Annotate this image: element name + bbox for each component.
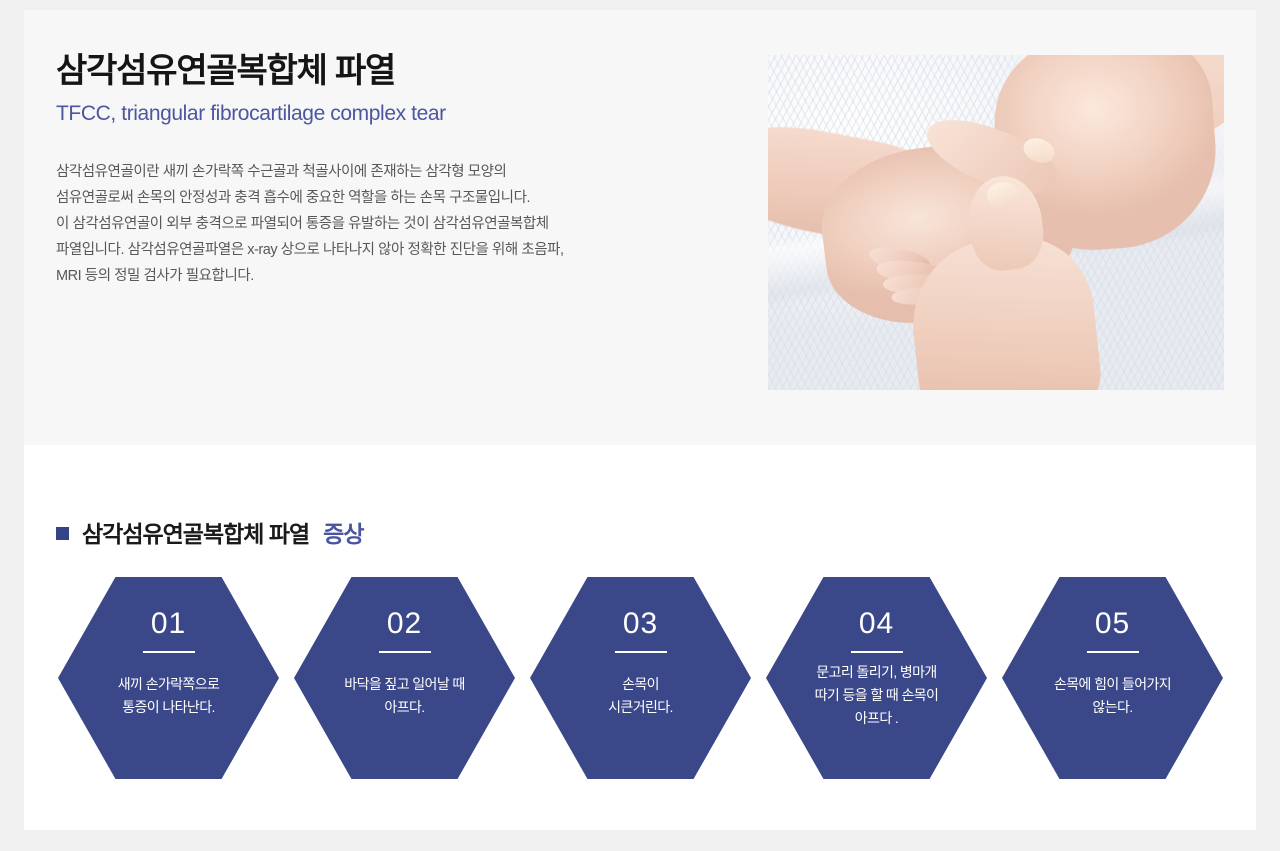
symptom-text-line: 손목이 xyxy=(544,673,737,696)
symptom-text-line: 시큰거린다. xyxy=(544,696,737,719)
intro-text-block: 삼각섬유연골복합체 파열 TFCC, triangular fibrocarti… xyxy=(56,50,736,289)
symptom-text: 손목이 시큰거린다. xyxy=(544,673,737,719)
symptom-text: 문고리 돌리기, 병마개 따기 등을 할 때 손목이 아프다 . xyxy=(780,661,973,730)
square-bullet-icon xyxy=(56,527,69,540)
description-line: 이 삼각섬유연골이 외부 충격으로 파열되어 통증을 유발하는 것이 삼각섬유연… xyxy=(56,216,549,232)
symptom-hexagon-row: 01 새끼 손가락쪽으로 통증이 나타난다. 02 바닥을 짚고 일어날 때 아… xyxy=(58,577,1228,779)
symptom-number: 01 xyxy=(58,609,279,639)
description-line: MRI 등의 정밀 검사가 필요합니다. xyxy=(56,268,254,284)
description-line: 삼각섬유연골이란 새끼 손가락쪽 수근골과 척골사이에 존재하는 삼각형 모양의 xyxy=(56,164,506,180)
symptom-text-line: 손목에 힘이 들어가지 xyxy=(1016,673,1209,696)
symptom-card-03[interactable]: 03 손목이 시큰거린다. xyxy=(530,577,751,779)
symptom-card-02[interactable]: 02 바닥을 짚고 일어날 때 아프다. xyxy=(294,577,515,779)
symptom-card-05[interactable]: 05 손목에 힘이 들어가지 않는다. xyxy=(1002,577,1223,779)
symptoms-panel: 삼각섬유연골복합체 파열 증상 01 새끼 손가락쪽으로 통증이 나타난다. 0… xyxy=(24,445,1256,830)
description-paragraph: 삼각섬유연골이란 새끼 손가락쪽 수근골과 척골사이에 존재하는 삼각형 모양의… xyxy=(56,159,736,289)
symptom-text-line: 문고리 돌리기, 병마개 xyxy=(780,661,973,684)
symptom-number-underline xyxy=(143,651,195,653)
page-subtitle: TFCC, triangular fibrocartilage complex … xyxy=(56,102,736,126)
symptom-text: 새끼 손가락쪽으로 통증이 나타난다. xyxy=(72,673,265,719)
description-line: 섬유연골로써 손목의 안정성과 충격 흡수에 중요한 역할을 하는 손목 구조물… xyxy=(56,190,530,206)
symptoms-heading-accent: 증상 xyxy=(323,515,363,549)
symptom-number-underline xyxy=(379,651,431,653)
symptoms-heading-text: 삼각섬유연골복합체 파열 xyxy=(82,515,309,549)
symptom-number-underline xyxy=(1087,651,1139,653)
symptom-number-underline xyxy=(851,651,903,653)
wrist-examination-photo xyxy=(768,55,1224,390)
symptom-text-line: 아프다. xyxy=(308,696,501,719)
symptom-text: 손목에 힘이 들어가지 않는다. xyxy=(1016,673,1209,719)
symptom-card-04[interactable]: 04 문고리 돌리기, 병마개 따기 등을 할 때 손목이 아프다 . xyxy=(766,577,987,779)
symptom-text-line: 아프다 . xyxy=(780,707,973,730)
intro-panel: 삼각섬유연골복합체 파열 TFCC, triangular fibrocarti… xyxy=(24,10,1256,445)
symptom-text-line: 통증이 나타난다. xyxy=(72,696,265,719)
symptom-text-line: 않는다. xyxy=(1016,696,1209,719)
symptom-number: 05 xyxy=(1002,609,1223,639)
description-line: 파열입니다. 삼각섬유연골파열은 x-ray 상으로 나타나지 않아 정확한 진… xyxy=(56,242,564,258)
symptom-text-line: 새끼 손가락쪽으로 xyxy=(72,673,265,696)
symptom-text-line: 따기 등을 할 때 손목이 xyxy=(780,684,973,707)
symptom-number: 03 xyxy=(530,609,751,639)
symptom-card-01[interactable]: 01 새끼 손가락쪽으로 통증이 나타난다. xyxy=(58,577,279,779)
thumbnail xyxy=(987,182,1019,209)
symptoms-heading: 삼각섬유연골복합체 파열 증상 xyxy=(56,515,363,549)
page-container: 삼각섬유연골복합체 파열 TFCC, triangular fibrocarti… xyxy=(24,10,1256,830)
symptom-text-line: 바닥을 짚고 일어날 때 xyxy=(308,673,501,696)
symptom-text: 바닥을 짚고 일어날 때 아프다. xyxy=(308,673,501,719)
symptom-number: 04 xyxy=(766,609,987,639)
symptom-number: 02 xyxy=(294,609,515,639)
photo-illustration xyxy=(768,55,1224,390)
page-title: 삼각섬유연골복합체 파열 xyxy=(56,50,736,93)
symptom-number-underline xyxy=(615,651,667,653)
